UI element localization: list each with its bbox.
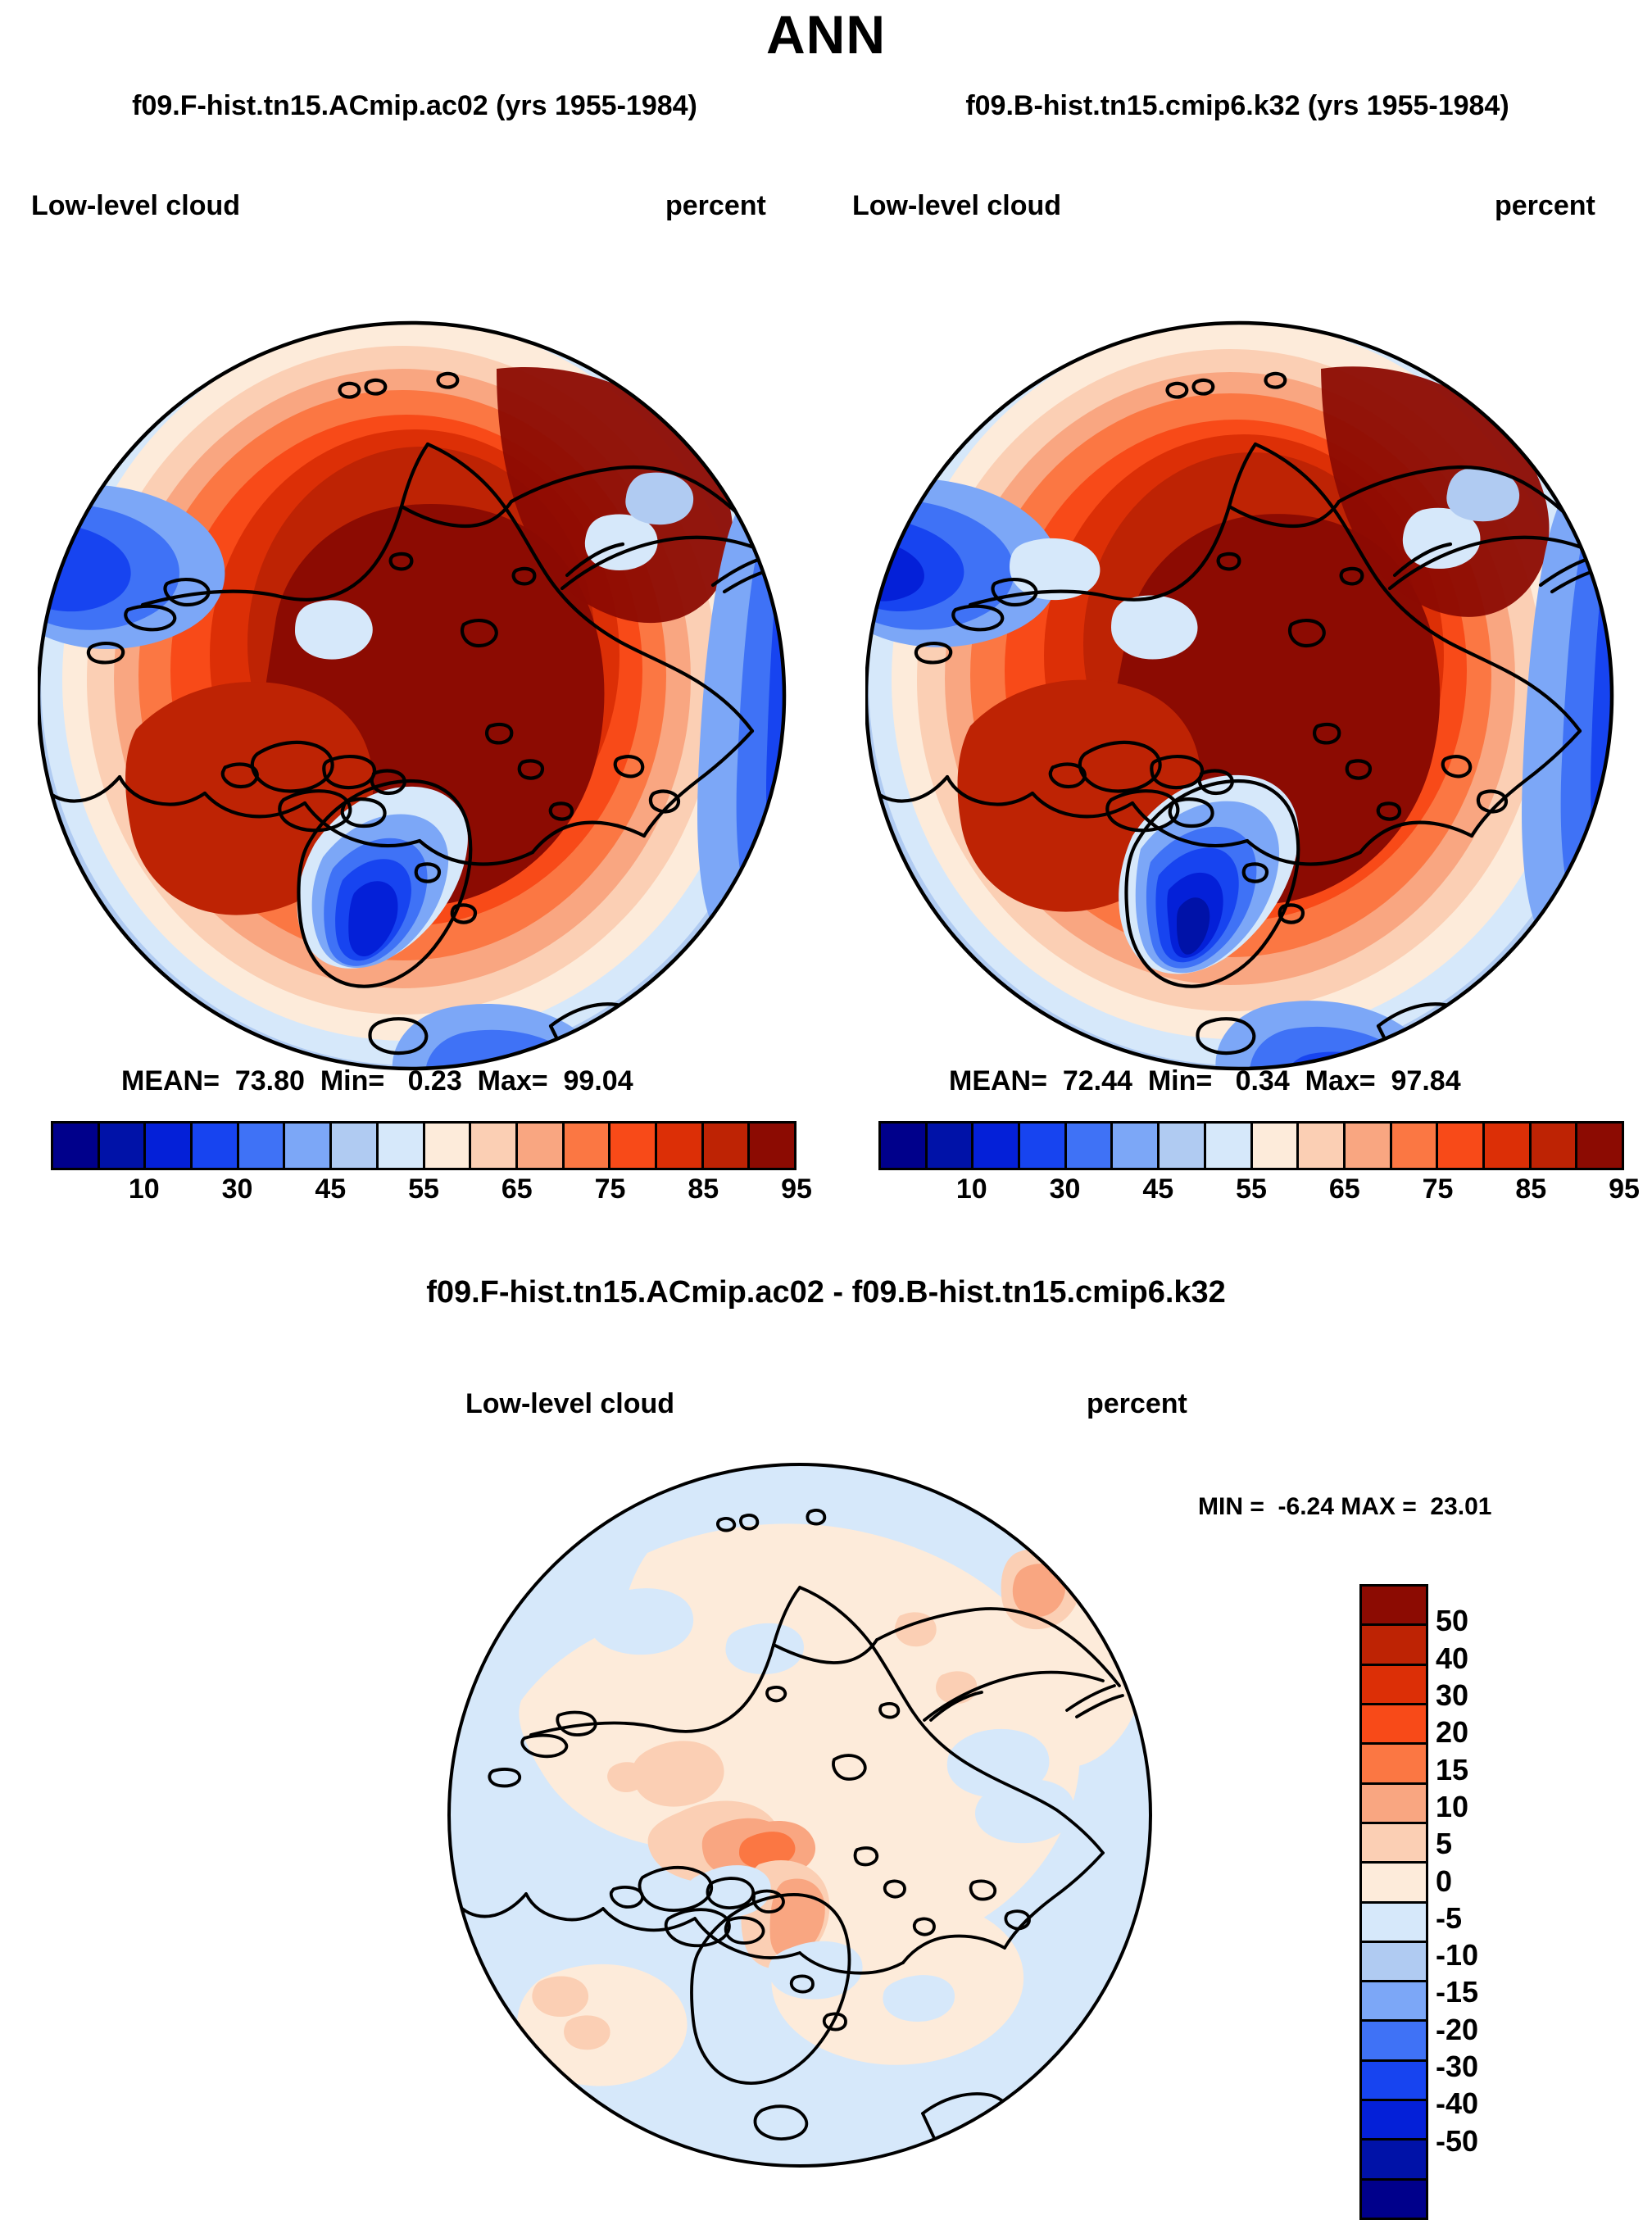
colorbar-tick-label: 65 [501,1174,533,1205]
map-right [865,270,1636,1123]
colorbar-swatch [518,1124,565,1168]
colorbar-swatch [1362,2062,1426,2101]
colorbar-swatch [146,1124,193,1168]
colorbar-tick-label: 5 [1436,1827,1452,1861]
colorbar-swatch [704,1124,751,1168]
colorbar-swatch [1346,1124,1392,1168]
colorbar-swatch [1362,1904,1426,1943]
colorbar-right[interactable] [878,1121,1624,1170]
colorbar-swatch [1206,1124,1253,1168]
colorbar-swatch [1160,1124,1206,1168]
figure-canvas: ANN f09.F-hist.tn15.ACmip.ac02 (yrs 1955… [0,0,1652,2206]
units-label-diff: percent [1087,1388,1187,1420]
colorbar-swatch [1438,1124,1485,1168]
colorbar-swatch [610,1124,657,1168]
colorbar-tick-label: 85 [688,1174,719,1205]
colorbar-swatch [1113,1124,1160,1168]
colorbar-swatch [1253,1124,1300,1168]
colorbar-tick-label: 75 [1423,1174,1454,1205]
colorbar-tick-label: 20 [1436,1715,1468,1750]
colorbar-swatch [1362,1745,1426,1784]
map-difference-field [442,1455,1164,2176]
colorbar-swatch [1362,1982,1426,2022]
stats-left: MEAN= 73.80 Min= 0.23 Max= 99.04 [121,1065,633,1097]
variable-label-diff: Low-level cloud [465,1388,674,1420]
colorbar-swatch [750,1124,794,1168]
colorbar-tick-label: 30 [222,1174,253,1205]
colorbar-swatch [1362,1824,1426,1864]
colorbar-tick-label: 55 [408,1174,439,1205]
stats-right: MEAN= 72.44 Min= 0.34 Max= 97.84 [949,1065,1461,1097]
colorbar-swatch [285,1124,332,1168]
colorbar-swatch [1067,1124,1114,1168]
colorbar-swatch [881,1124,928,1168]
colorbar-left[interactable] [51,1121,796,1170]
map-left-field [38,270,808,1123]
colorbar-tick-label: 10 [956,1174,987,1205]
colorbar-tick-label: 0 [1436,1864,1452,1899]
case-label-left: f09.F-hist.tn15.ACmip.ac02 (yrs 1955-198… [5,90,824,122]
colorbar-swatch [1299,1124,1346,1168]
colorbar-swatch [471,1124,518,1168]
colorbar-tick-label: 30 [1436,1678,1468,1713]
colorbar-swatch [973,1124,1020,1168]
colorbar-swatch [1362,2101,1426,2141]
colorbar-tick-label: 95 [1609,1174,1640,1205]
colorbar-tick-label: 30 [1050,1174,1081,1205]
colorbar-tick-label: -40 [1436,2086,1478,2121]
colorbar-swatch [1362,1626,1426,1665]
colorbar-swatch [1485,1124,1532,1168]
colorbar-swatch [1362,2141,1426,2180]
colorbar-tick-label: -15 [1436,1975,1478,2009]
colorbar-difference[interactable] [1359,1584,1428,2220]
map-left [38,270,808,1123]
colorbar-swatch [1362,1864,1426,1903]
colorbar-swatch [1362,2181,1426,2218]
colorbar-swatch [53,1124,100,1168]
colorbar-tick-label: 65 [1329,1174,1360,1205]
colorbar-swatch [1392,1124,1439,1168]
colorbar-swatch [565,1124,611,1168]
colorbar-swatch [928,1124,974,1168]
units-label-left: percent [665,190,766,222]
map-difference [442,1455,1164,2176]
colorbar-swatch [425,1124,472,1168]
colorbar-tick-label: -30 [1436,2050,1478,2084]
colorbar-swatch [1362,1587,1426,1626]
colorbar-swatch [1020,1124,1067,1168]
colorbar-swatch [100,1124,147,1168]
colorbar-tick-label: 45 [315,1174,346,1205]
colorbar-tick-label: 50 [1436,1604,1468,1638]
colorbar-swatch [1362,1943,1426,1982]
colorbar-tick-label: -20 [1436,2013,1478,2047]
colorbar-swatch [193,1124,239,1168]
colorbar-left-labels: 1030455565758595 [51,1174,792,1210]
page-title: ANN [0,3,1652,66]
colorbar-swatch [1577,1124,1622,1168]
map-right-field [865,270,1636,1123]
colorbar-right-labels: 1030455565758595 [878,1174,1619,1210]
case-label-row: f09.F-hist.tn15.ACmip.ac02 (yrs 1955-198… [0,90,1652,131]
colorbar-swatch [1532,1124,1578,1168]
colorbar-tick-label: 95 [781,1174,812,1205]
colorbar-tick-label: 40 [1436,1641,1468,1676]
colorbar-tick-label: 10 [1436,1790,1468,1824]
colorbar-tick-label: -10 [1436,1938,1478,1973]
colorbar-swatch [379,1124,425,1168]
colorbar-swatch [332,1124,379,1168]
case-label-right: f09.B-hist.tn15.cmip6.k32 (yrs 1955-1984… [828,90,1647,122]
colorbar-swatch [1362,1705,1426,1745]
colorbar-swatch [1362,2022,1426,2061]
variable-label-left: Low-level cloud [31,190,240,222]
units-label-right: percent [1495,190,1595,222]
colorbar-swatch [239,1124,286,1168]
colorbar-tick-label: 15 [1436,1753,1468,1787]
difference-minmax: MIN = -6.24 MAX = 23.01 [1198,1493,1492,1521]
colorbar-tick-label: 45 [1142,1174,1173,1205]
colorbar-swatch [657,1124,704,1168]
colorbar-tick-label: 10 [129,1174,160,1205]
colorbar-swatch [1362,1666,1426,1705]
colorbar-tick-label: -50 [1436,2124,1478,2159]
difference-title: f09.F-hist.tn15.ACmip.ac02 - f09.B-hist.… [0,1275,1652,1310]
variable-label-right: Low-level cloud [852,190,1061,222]
colorbar-tick-label: 75 [595,1174,626,1205]
colorbar-tick-label: -5 [1436,1901,1462,1936]
colorbar-tick-label: 85 [1515,1174,1546,1205]
colorbar-tick-label: 55 [1236,1174,1267,1205]
colorbar-swatch [1362,1785,1426,1824]
